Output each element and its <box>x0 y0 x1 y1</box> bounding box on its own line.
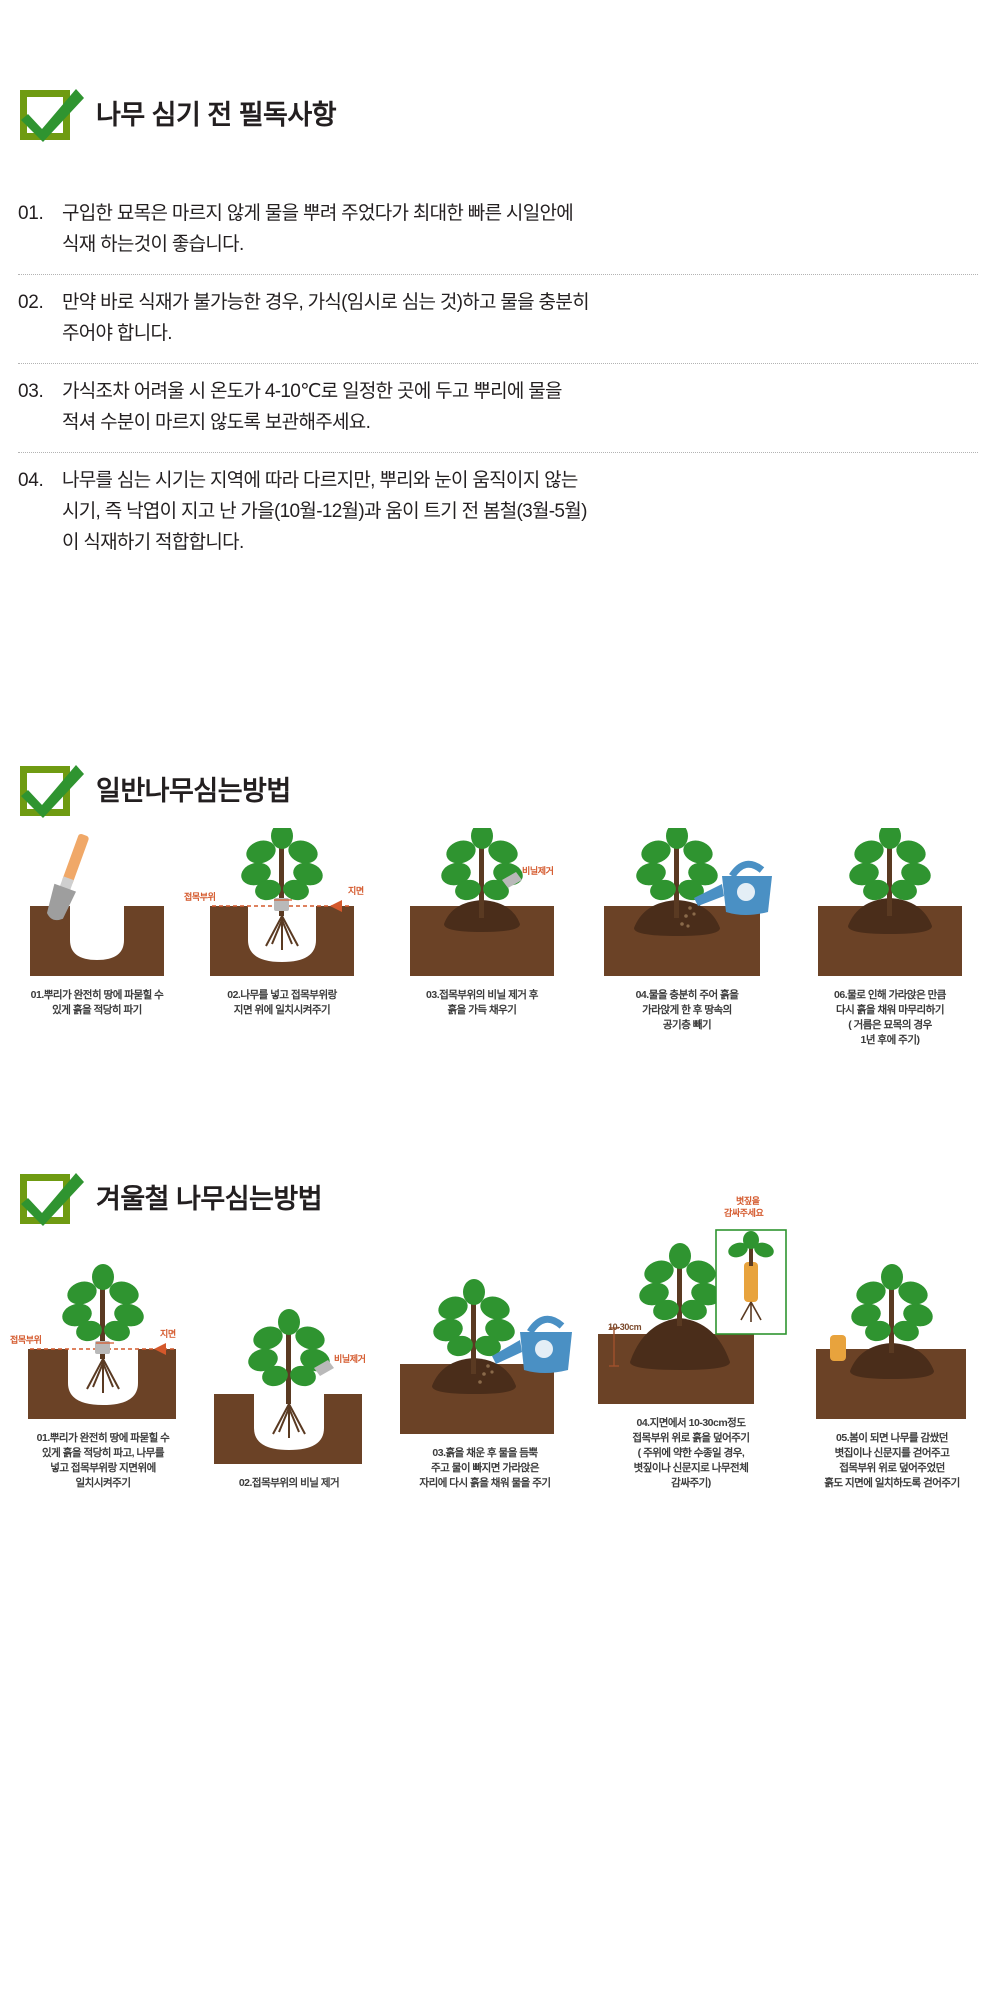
section-title-general-planting: 일반나무심는방법 <box>96 769 291 808</box>
caption-line: 03.흙을 채운 후 물을 듬뿍 <box>382 1446 588 1461</box>
caption-line: 05.봄이 되면 나무를 감쌌던 <box>794 1431 990 1446</box>
caption-line: 03.접목부위의 비닐 제거 후 <box>382 988 582 1003</box>
step-winter-4: 볏짚을 감싸주세요 10-30cm 04.지면에서 10-30cm정도 접목부위… <box>588 1216 794 1491</box>
step-general-1: 01.뿌리가 완전히 땅에 파묻힐 수 있게 흙을 적당히 파기 <box>12 828 182 1048</box>
caption-line: 02.나무를 넣고 접목부위랑 <box>182 988 382 1003</box>
notice-text: 만약 바로 식재가 불가능한 경우, 가식(임시로 심는 것)하고 물을 충분히… <box>62 287 589 349</box>
caption-line: 06.물로 인해 가라앉은 만큼 <box>792 988 988 1003</box>
step-caption: 04.지면에서 10-30cm정도 접목부위 위로 흙을 덮어주기 ( 주위에 … <box>588 1416 794 1491</box>
illustration-refill-soil <box>792 828 988 988</box>
annotation-remove-plastic: 비닐제거 <box>522 866 554 877</box>
illustration-winter-remove-plastic: 비닐제거 <box>196 1276 382 1476</box>
annotation-remove-plastic: 비닐제거 <box>334 1354 366 1365</box>
caption-line: 볏짚이나 신문지로 나무전체 <box>588 1461 794 1476</box>
annotation-straw-line-2: 감싸주세요 <box>724 1208 763 1219</box>
notice-number: 01. <box>18 198 62 260</box>
caption-line: 공기층 빼기 <box>582 1018 792 1033</box>
checkbox-checked-icon <box>18 760 74 816</box>
step-caption: 02.접목부위의 비닐 제거 <box>196 1476 382 1491</box>
illustration-winter-mound-soil: 볏짚을 감싸주세요 10-30cm <box>588 1216 794 1416</box>
step-caption: 05.봄이 되면 나무를 감쌌던 볏집이나 신문지를 걷어주고 접목부위 위로 … <box>794 1431 990 1491</box>
caption-line: 있게 흙을 적당히 파고, 나무를 <box>10 1446 196 1461</box>
illustration-place-tree: 접목부위 지면 <box>182 828 382 988</box>
notice-line: 이 식재하기 적합합니다. <box>62 527 587 558</box>
annotation-graft-union: 접목부위 <box>10 1335 42 1346</box>
notice-number: 02. <box>18 287 62 349</box>
step-caption: 04.물을 충분히 주어 흙을 가라앉게 한 후 땅속의 공기층 빼기 <box>582 988 792 1033</box>
section-header-precautions: 나무 심기 전 필독사항 <box>18 84 336 140</box>
notice-line: 주어야 합니다. <box>62 318 589 349</box>
notice-item: 04. 나무를 심는 시기는 지역에 따라 다르지만, 뿌리와 눈이 움직이지 … <box>18 453 978 572</box>
step-caption: 02.나무를 넣고 접목부위랑 지면 위에 일치시켜주기 <box>182 988 382 1018</box>
general-planting-steps: 01.뿌리가 완전히 땅에 파묻힐 수 있게 흙을 적당히 파기 <box>12 828 988 1048</box>
caption-line: 지면 위에 일치시켜주기 <box>182 1003 382 1018</box>
infographic-page: 나무 심기 전 필독사항 01. 구입한 묘목은 마르지 않게 물을 뿌려 주었… <box>0 0 1000 2000</box>
caption-line: 자리에 다시 흙을 채워 물을 주기 <box>382 1476 588 1491</box>
precautions-list: 01. 구입한 묘목은 마르지 않게 물을 뿌려 주었다가 최대한 빠른 시일안… <box>18 186 978 572</box>
notice-number: 03. <box>18 376 62 438</box>
illustration-winter-place-tree: 접목부위 지면 <box>10 1231 196 1431</box>
caption-line: 02.접목부위의 비닐 제거 <box>196 1476 382 1491</box>
section-title-winter-planting: 겨울철 나무심는방법 <box>96 1177 322 1216</box>
annotation-depth-measure: 10-30cm <box>608 1322 641 1333</box>
illustration-dig-hole <box>12 828 182 988</box>
section-header-general-planting: 일반나무심는방법 <box>18 760 291 816</box>
notice-line: 가식조차 어려울 시 온도가 4-10℃로 일정한 곳에 두고 뿌리에 물을 <box>62 376 562 407</box>
step-general-3: 비닐제거 03.접목부위의 비닐 제거 후 흙을 가득 채우기 <box>382 828 582 1048</box>
notice-line: 시기, 즉 낙엽이 지고 난 가을(10월-12월)과 움이 트기 전 봄철(3… <box>62 496 587 527</box>
annotation-straw-line-1: 볏짚을 <box>736 1196 760 1207</box>
step-general-6: 06.물로 인해 가라앉은 만큼 다시 흙을 채워 마무리하기 ( 거름은 묘목… <box>792 828 988 1048</box>
caption-line: 주고 물이 빠지면 가라앉은 <box>382 1461 588 1476</box>
step-caption: 03.흙을 채운 후 물을 듬뿍 주고 물이 빠지면 가라앉은 자리에 다시 흙… <box>382 1446 588 1491</box>
section-title-precautions: 나무 심기 전 필독사항 <box>96 93 336 132</box>
notice-line: 적셔 수분이 마르지 않도록 보관해주세요. <box>62 407 562 438</box>
step-caption: 06.물로 인해 가라앉은 만큼 다시 흙을 채워 마무리하기 ( 거름은 묘목… <box>792 988 988 1048</box>
caption-line: 다시 흙을 채워 마무리하기 <box>792 1003 988 1018</box>
notice-number: 04. <box>18 465 62 558</box>
winter-planting-steps: 접목부위 지면 01.뿌리가 완전히 땅에 파묻힐 수 있게 흙을 적당히 파고… <box>10 1216 990 1491</box>
caption-line: 접목부위 위로 덮어주었던 <box>794 1461 990 1476</box>
step-winter-2: 비닐제거 02.접목부위의 비닐 제거 <box>196 1276 382 1491</box>
caption-line: 01.뿌리가 완전히 땅에 파묻힐 수 <box>10 1431 196 1446</box>
step-caption: 01.뿌리가 완전히 땅에 파묻힐 수 있게 흙을 적당히 파고, 나무를 넣고… <box>10 1431 196 1491</box>
caption-line: 볏집이나 신문지를 걷어주고 <box>794 1446 990 1461</box>
step-caption: 03.접목부위의 비닐 제거 후 흙을 가득 채우기 <box>382 988 582 1018</box>
step-winter-1: 접목부위 지면 01.뿌리가 완전히 땅에 파묻힐 수 있게 흙을 적당히 파고… <box>10 1231 196 1491</box>
step-general-4: 04.물을 충분히 주어 흙을 가라앉게 한 후 땅속의 공기층 빼기 <box>582 828 792 1048</box>
step-winter-5: 05.봄이 되면 나무를 감쌌던 볏집이나 신문지를 걷어주고 접목부위 위로 … <box>794 1231 990 1491</box>
illustration-remove-plastic: 비닐제거 <box>382 828 582 988</box>
caption-line: 04.물을 충분히 주어 흙을 <box>582 988 792 1003</box>
caption-line: 흙도 지면에 일치하도록 걷어주기 <box>794 1476 990 1491</box>
annotation-ground-level: 지면 <box>348 886 364 897</box>
caption-line: 가라앉게 한 후 땅속의 <box>582 1003 792 1018</box>
annotation-ground-level: 지면 <box>160 1329 176 1340</box>
caption-line: 넣고 접목부위랑 지면위에 <box>10 1461 196 1476</box>
notice-item: 02. 만약 바로 식재가 불가능한 경우, 가식(임시로 심는 것)하고 물을… <box>18 275 978 363</box>
caption-line: 04.지면에서 10-30cm정도 <box>588 1416 794 1431</box>
notice-text: 구입한 묘목은 마르지 않게 물을 뿌려 주었다가 최대한 빠른 시일안에 식재… <box>62 198 573 260</box>
caption-line: ( 거름은 묘목의 경우 <box>792 1018 988 1033</box>
illustration-watering <box>582 828 792 988</box>
notice-line: 나무를 심는 시기는 지역에 따라 다르지만, 뿌리와 눈이 움직이지 않는 <box>62 465 587 496</box>
caption-line: 접목부위 위로 흙을 덮어주기 <box>588 1431 794 1446</box>
notice-line: 식재 하는것이 좋습니다. <box>62 229 573 260</box>
caption-line: 감싸주기) <box>588 1476 794 1491</box>
step-general-2: 접목부위 지면 02.나무를 넣고 접목부위랑 지면 위에 일치시켜주기 <box>182 828 382 1048</box>
caption-line: 1년 후에 주기) <box>792 1033 988 1048</box>
notice-line: 만약 바로 식재가 불가능한 경우, 가식(임시로 심는 것)하고 물을 충분히 <box>62 287 589 318</box>
caption-line: 01.뿌리가 완전히 땅에 파묻힐 수 <box>12 988 182 1003</box>
step-winter-3: 03.흙을 채운 후 물을 듬뿍 주고 물이 빠지면 가라앉은 자리에 다시 흙… <box>382 1246 588 1491</box>
step-caption: 01.뿌리가 완전히 땅에 파묻힐 수 있게 흙을 적당히 파기 <box>12 988 182 1018</box>
notice-text: 나무를 심는 시기는 지역에 따라 다르지만, 뿌리와 눈이 움직이지 않는 시… <box>62 465 587 558</box>
notice-item: 03. 가식조차 어려울 시 온도가 4-10℃로 일정한 곳에 두고 뿌리에 … <box>18 364 978 452</box>
notice-item: 01. 구입한 묘목은 마르지 않게 물을 뿌려 주었다가 최대한 빠른 시일안… <box>18 186 978 274</box>
annotation-graft-union: 접목부위 <box>184 892 216 903</box>
notice-line: 구입한 묘목은 마르지 않게 물을 뿌려 주었다가 최대한 빠른 시일안에 <box>62 198 573 229</box>
illustration-winter-spring-uncover <box>794 1231 990 1431</box>
illustration-winter-watering <box>382 1246 588 1446</box>
caption-line: 있게 흙을 적당히 파기 <box>12 1003 182 1018</box>
checkbox-checked-icon <box>18 84 74 140</box>
caption-line: 흙을 가득 채우기 <box>382 1003 582 1018</box>
caption-line: 일치시켜주기 <box>10 1476 196 1491</box>
notice-text: 가식조차 어려울 시 온도가 4-10℃로 일정한 곳에 두고 뿌리에 물을 적… <box>62 376 562 438</box>
caption-line: ( 주위에 약한 수종일 경우, <box>588 1446 794 1461</box>
